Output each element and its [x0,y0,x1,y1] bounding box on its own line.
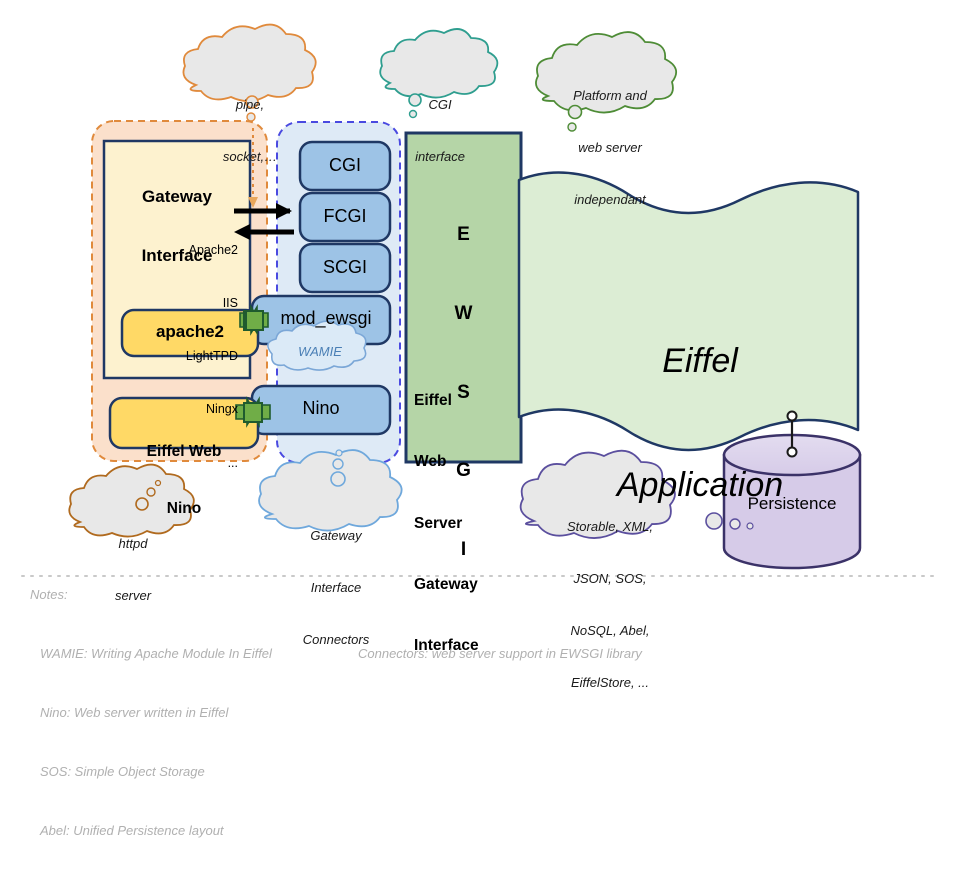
notes-left-column: WAMIE: Writing Apache Module In Eiffel N… [40,604,370,881]
cloud-cgi-interface-label: CGI interface [385,62,495,199]
persistence-label: Persistence [724,494,860,514]
connector-label-scgi: SCGI [300,257,390,278]
note-line: Abel: Unified Persistence layout [40,821,370,841]
connector-label-mod-ewsgi: mod_ewsgi [262,308,390,329]
connector-label-nino: Nino [252,398,390,419]
cloud-platform-independent-label: Platform and web server independant [540,52,680,243]
server-list-item: Apache2 [104,242,238,260]
connector-label-fcgi: FCGI [300,206,390,227]
cloud-pipe-socket-label: pipe, socket,… [190,62,310,199]
server-list-item: LightTPD [104,348,238,366]
diagram-canvas: Gateway Interface Apache2 IIS LightTPD N… [0,0,960,720]
note-line: Connectors: web server support in EWSGI … [358,644,758,664]
note-line: WAMIE: Writing Apache Module In Eiffel [40,644,370,664]
connector-label-cgi: CGI [300,155,390,176]
notes-heading: Notes: [30,588,68,603]
server-box-apache2-label: apache2 [122,322,258,342]
server-list-item: IIS [104,295,238,313]
wamie-cloud-label: WAMIE [280,345,360,360]
notes-right-column: Connectors: web server support in EWSGI … [358,604,758,703]
note-line: SOS: Simple Object Storage [40,762,370,782]
